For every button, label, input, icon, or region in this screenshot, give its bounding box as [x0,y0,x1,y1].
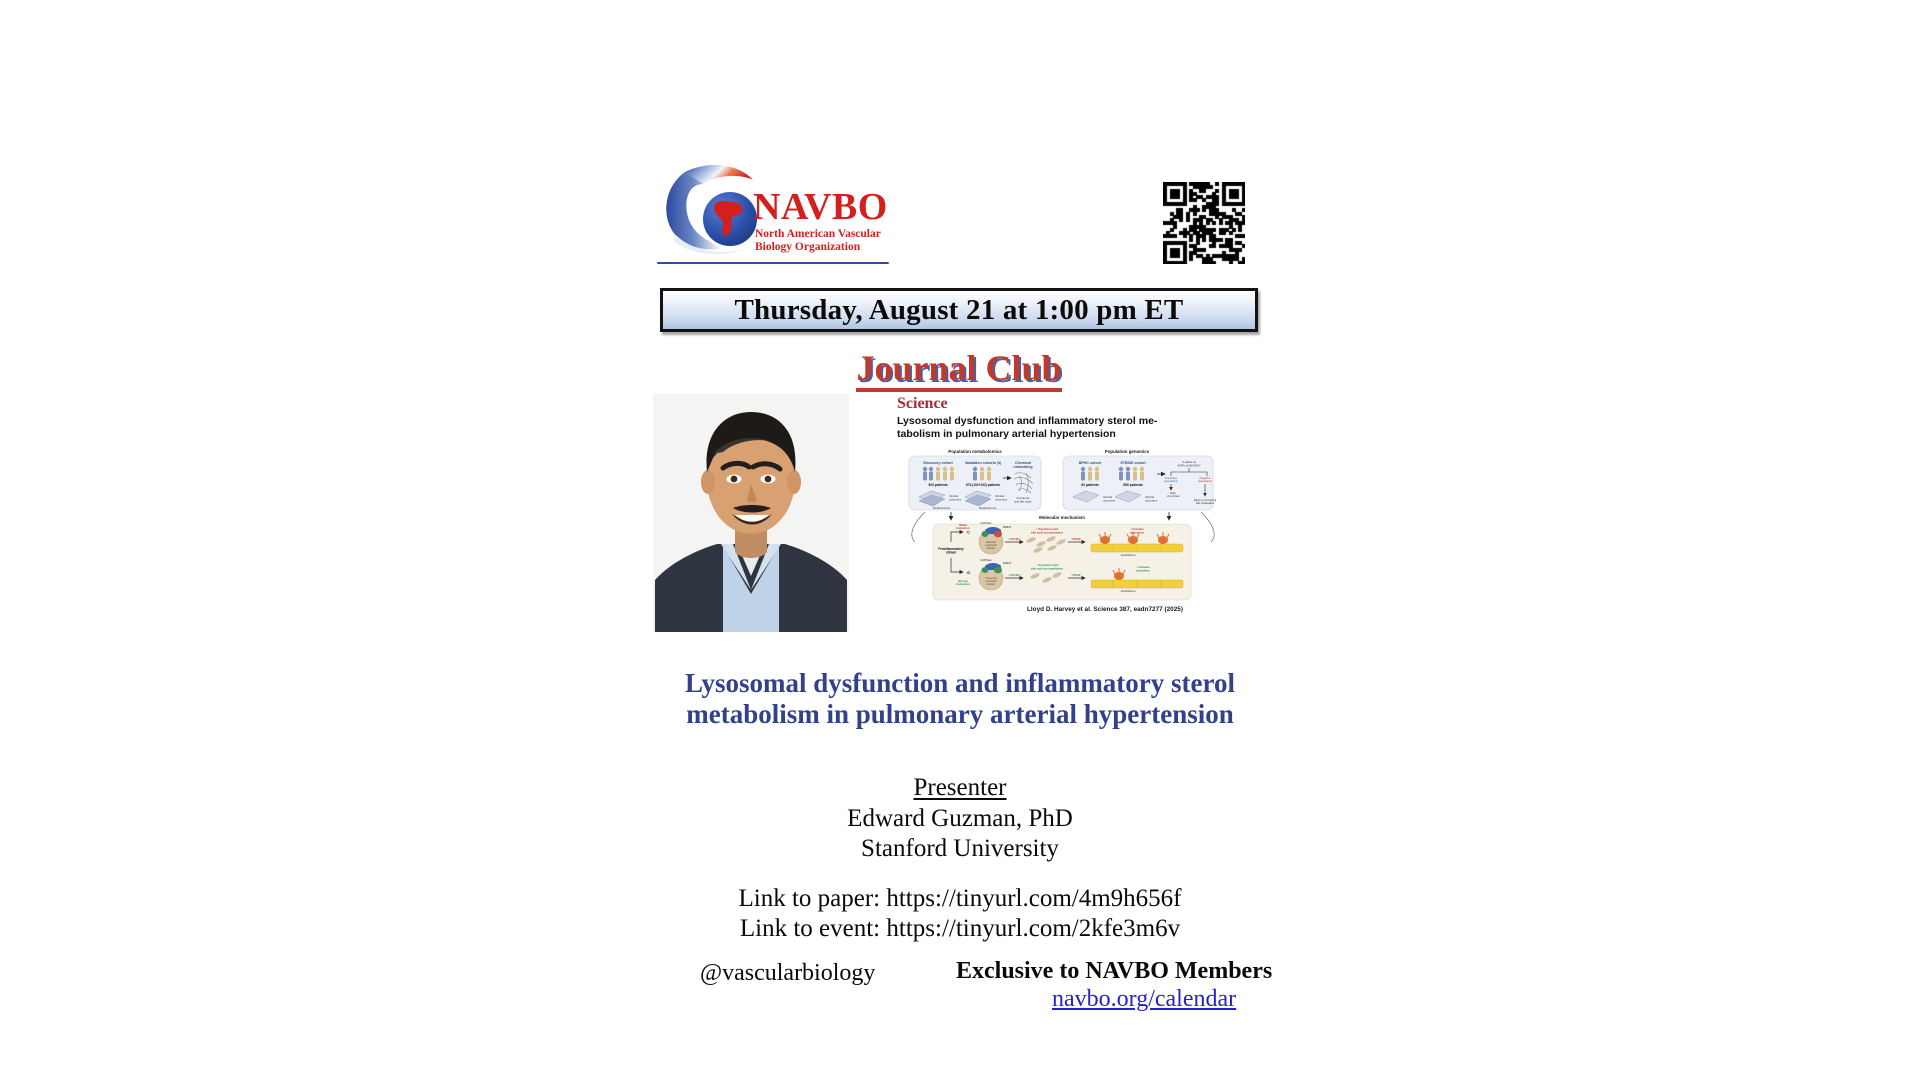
event-link[interactable]: Link to event: https://tinyurl.com/2kfe3… [620,914,1300,944]
flyer-footer: @vascularbiology Exclusive to NAVBO Memb… [620,952,1320,1032]
presenter-block: Presenter Edward Guzman, PhD Stanford Un… [620,772,1300,864]
series-title: Journal Club [660,350,1258,392]
qr-code-canvas[interactable] [1163,182,1245,264]
svg-text:Molecular mechanism: Molecular mechanism [1039,515,1085,520]
svg-text:Population metabolomics: Population metabolomics [948,449,1002,454]
social-handle: @vascularbiology [700,960,875,987]
svg-text:G: G [967,570,970,575]
paper-title-line2: metabolism in pulmonary arterial hyperte… [686,699,1234,729]
svg-text:association: association [1198,479,1212,483]
svg-text:93 patients: 93 patients [1081,483,1099,487]
series-title-text: Journal Club [856,350,1061,392]
svg-text:Validation cohorts (3): Validation cohorts (3) [965,461,1002,465]
svg-text:activation: activation [1136,569,1150,573]
paper-link[interactable]: Link to paper: https://tinyurl.com/4m9h6… [620,884,1300,914]
event-date-banner: Thursday, August 21 at 1:00 pm ET [660,288,1258,332]
svg-text:650 patients: 650 patients [1123,483,1143,487]
presenter-affiliation: Stanford University [620,834,1300,864]
svg-text:induction: induction [956,582,970,586]
svg-text:303 patients: 303 patients [928,483,948,487]
paper-title-line1: Lysosomal dysfunction and inflammatory s… [685,668,1235,698]
svg-text:V-ATPase: V-ATPase [980,558,992,562]
svg-text:bile metabolites: bile metabolites [1196,501,1215,505]
headshot-illustration [653,394,849,632]
media-row: Science Lysosomal dysfunction and inflam… [653,394,1263,634]
svg-text:676 (102+232) patients: 676 (102+232) patients [966,483,1000,487]
svg-text:function: function [987,547,996,550]
navbo-globe-icon [703,192,757,246]
svg-text:bile acid accumulation: bile acid accumulation [1031,567,1063,571]
svg-text:↑CXCR4: ↑CXCR4 [1008,537,1020,541]
calendar-link[interactable]: navbo.org/calendar [1052,986,1236,1013]
svg-text:BPHC cohort: BPHC cohort [1079,461,1102,465]
journal-article-title: Lysosomal dysfunction and inflammatory s… [897,415,1197,440]
navbo-logo-underline [657,262,889,264]
svg-text:induction: induction [956,526,970,530]
flyer-page: NAVBO North American Vascular Biology Or… [0,0,1920,1080]
svg-text:Endothelium: Endothelium [1121,589,1135,593]
navbo-tagline-line2: Biology Organization [755,241,860,253]
journal-figure: Population metabolomics Discovery cohort… [905,444,1219,604]
svg-text:NR2A7: NR2A7 [1003,561,1012,565]
north-america-shape [712,198,748,240]
presenter-name: Edward Guzman, PhD [620,804,1300,834]
science-brand-logo: Science [897,396,948,412]
svg-text:STRIDE cohort: STRIDE cohort [1120,461,1146,465]
svg-text:Metabolomics: Metabolomics [979,506,997,510]
navbo-wordmark: NAVBO [753,188,888,226]
navbo-tagline: North American Vascular Biology Organiza… [755,228,895,253]
svg-text:outcomes: outcomes [1145,498,1158,502]
svg-text:and bile acids: and bile acids [1014,500,1032,504]
journal-article-title-line1: Lysosomal dysfunction and inflammatory s… [897,415,1157,427]
svg-text:activation: activation [1130,531,1144,535]
paper-title: Lysosomal dysfunction and inflammatory s… [620,668,1300,730]
svg-text:of survival: of survival [1167,494,1180,498]
svg-text:↑PDGF: ↑PDGF [1071,537,1081,541]
event-date-text: Thursday, August 21 at 1:00 pm ET [735,294,1184,327]
svg-text:Endothelium: Endothelium [1121,553,1135,557]
navbo-tagline-line1: North American Vascular [755,228,881,240]
svg-text:↓CXCR4: ↓CXCR4 [1008,573,1020,577]
svg-text:V-ATPase: V-ATPase [980,521,992,525]
journal-figure-credit: Lloyd D. Harvey et al. Science 387, eadn… [1027,606,1183,613]
svg-text:C: C [967,530,970,535]
svg-text:outcomes: outcomes [995,497,1008,501]
links-block: Link to paper: https://tinyurl.com/4m9h6… [620,884,1300,944]
qr-code[interactable] [1163,182,1245,264]
svg-text:bile acid accumulation: bile acid accumulation [1031,531,1063,535]
svg-text:NR2A7: NR2A7 [1003,525,1012,529]
svg-text:networking: networking [1013,465,1032,469]
svg-text:SNP rs10033427: SNP rs10033427 [1178,464,1201,468]
presenter-headshot [653,394,849,632]
journal-article-title-line2: tabolism in pulmonary arterial hypertens… [897,428,1116,440]
flyer-header: NAVBO North American Vascular Biology Or… [655,160,1260,275]
svg-text:Population genomics: Population genomics [1105,449,1150,454]
journal-article-card: Science Lysosomal dysfunction and inflam… [895,394,1263,632]
svg-text:association: association [1164,479,1178,483]
svg-text:↓PDGF: ↓PDGF [1071,573,1081,577]
svg-text:function: function [987,583,996,586]
navbo-logo: NAVBO North American Vascular Biology Or… [655,160,890,272]
svg-text:stimuli: stimuli [946,551,956,555]
svg-text:outcomes: outcomes [1103,498,1116,502]
members-only-note: Exclusive to NAVBO Members [956,958,1272,985]
svg-text:outcomes: outcomes [949,497,962,501]
svg-text:Discovery cohort: Discovery cohort [923,461,953,465]
svg-text:Metabolomics: Metabolomics [933,506,951,510]
presenter-label: Presenter [620,772,1300,804]
